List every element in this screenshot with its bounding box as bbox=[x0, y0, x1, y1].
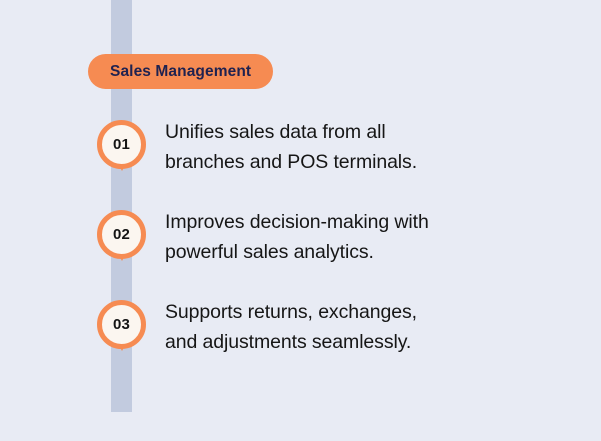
step-description-line-1: Improves decision-making with bbox=[165, 207, 565, 237]
step-marker-01: 01 bbox=[97, 120, 146, 169]
step-marker-02: 02 bbox=[97, 210, 146, 259]
step-description-line-1: Unifies sales data from all bbox=[165, 117, 565, 147]
step-number-label: 02 bbox=[113, 227, 130, 242]
step-number-label: 03 bbox=[113, 317, 130, 332]
step-description-03: Supports returns, exchanges, and adjustm… bbox=[165, 297, 565, 357]
step-description-line-2: branches and POS terminals. bbox=[165, 147, 565, 177]
pin-circle-icon: 01 bbox=[97, 120, 146, 169]
step-description-02: Improves decision-making with powerful s… bbox=[165, 207, 565, 267]
section-title-badge: Sales Management bbox=[88, 54, 273, 89]
step-description-line-2: and adjustments seamlessly. bbox=[165, 327, 565, 357]
step-description-line-2: powerful sales analytics. bbox=[165, 237, 565, 267]
pin-circle-icon: 03 bbox=[97, 300, 146, 349]
step-description-line-1: Supports returns, exchanges, bbox=[165, 297, 565, 327]
section-title-label: Sales Management bbox=[110, 63, 251, 81]
list-item: 03 Supports returns, exchanges, and adju… bbox=[0, 300, 601, 372]
pin-circle-icon: 02 bbox=[97, 210, 146, 259]
step-marker-03: 03 bbox=[97, 300, 146, 349]
step-number-label: 01 bbox=[113, 137, 130, 152]
list-item: 01 Unifies sales data from all branches … bbox=[0, 120, 601, 192]
list-item: 02 Improves decision-making with powerfu… bbox=[0, 210, 601, 282]
step-description-01: Unifies sales data from all branches and… bbox=[165, 117, 565, 177]
sales-management-infographic: Sales Management 01 Unifies sales data f… bbox=[0, 0, 601, 441]
